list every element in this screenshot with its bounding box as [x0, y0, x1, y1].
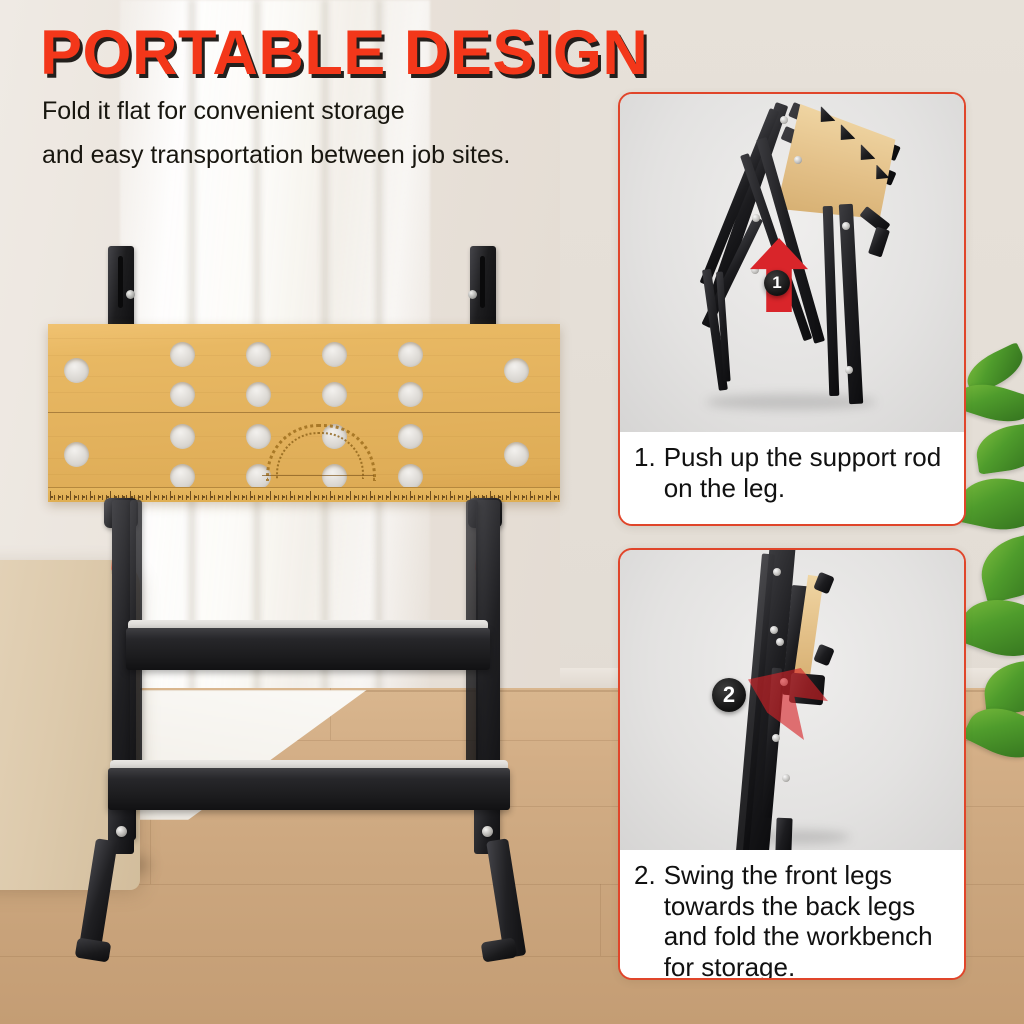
step-panel-1[interactable]: 1 1. Push up the support rod on the leg.	[618, 92, 966, 526]
step-2-badge: 2	[712, 678, 746, 712]
product-workbench-main	[30, 228, 590, 948]
step-1-image: 1	[620, 94, 964, 432]
step-1-caption-number: 1.	[634, 442, 664, 473]
step-2-image: 2	[620, 550, 964, 850]
subtitle-line-1: Fold it flat for convenient storage	[42, 97, 405, 126]
step-2-caption-number: 2.	[634, 860, 664, 891]
worktop-seam	[48, 412, 560, 413]
step-1-caption-text: Push up the support rod on the leg.	[664, 442, 950, 503]
step-2-caption-text: Swing the front legs towards the back le…	[664, 860, 950, 980]
step-1-caption: 1. Push up the support rod on the leg.	[620, 432, 964, 524]
brace-upper	[126, 628, 490, 670]
background-plant	[958, 352, 1024, 772]
worktop	[48, 324, 560, 502]
step-1-badge: 1	[764, 270, 790, 296]
brace-lower	[108, 768, 510, 810]
subtitle-line-2: and easy transportation between job site…	[42, 141, 510, 170]
infographic-canvas: PORTABLE DESIGN Fold it flat for conveni…	[0, 0, 1024, 1024]
step-panel-2[interactable]: 2 2. Swing the front legs towards the ba…	[618, 548, 966, 980]
page-title: PORTABLE DESIGN	[40, 22, 648, 85]
step-2-caption: 2. Swing the front legs towards the back…	[620, 850, 964, 978]
